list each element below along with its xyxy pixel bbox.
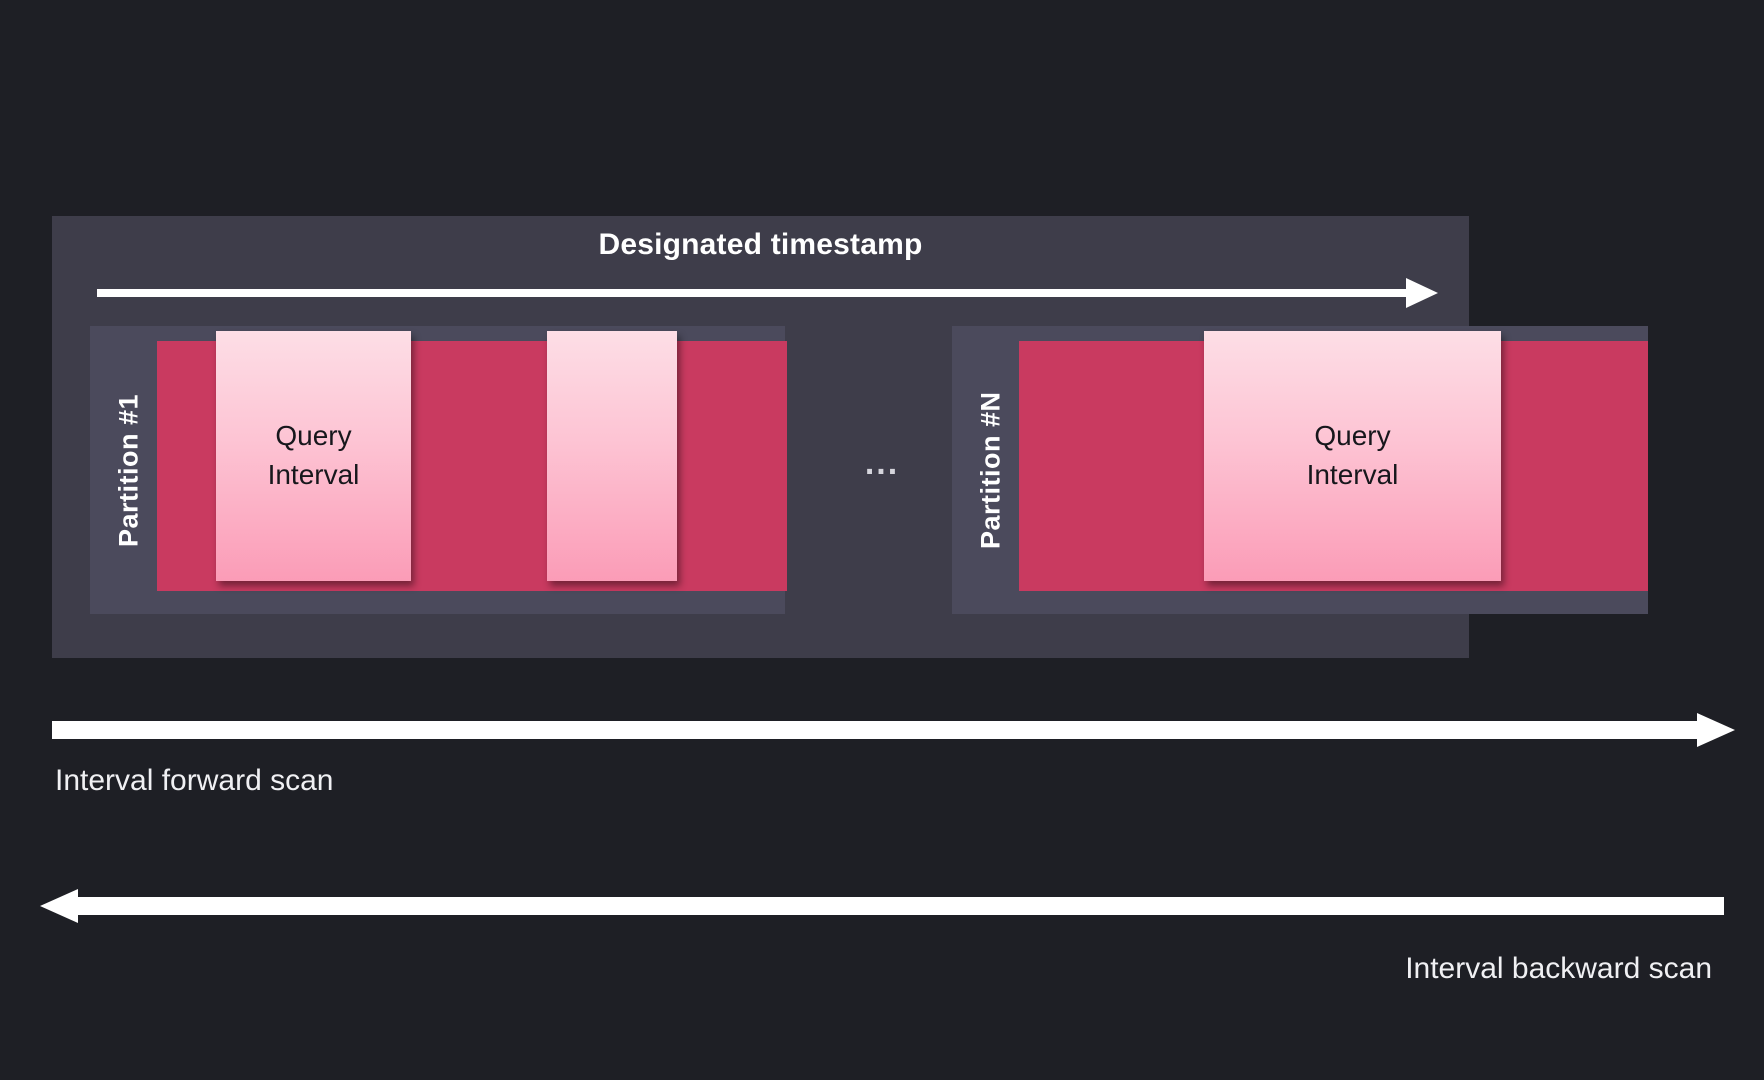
arrow-head-left-icon [40,889,78,923]
interval-forward-scan-label: Interval forward scan [55,764,333,798]
partition-1-bars: Query Interval [157,341,785,591]
partition-1: Partition #1 Query Interval [90,326,785,614]
query-interval-line2: Interval [268,456,360,495]
arrow-head-right-icon [1697,713,1735,747]
partition-n-label: Partition #N [964,326,1018,614]
query-interval-line1: Query [1314,417,1390,456]
partitions-row: Partition #1 Query Interval ... Partitio [90,326,1435,614]
arrow-shaft [97,289,1406,297]
designated-timestamp-arrow-icon [97,278,1438,308]
page-title: Designated timestamp [52,228,1469,262]
partition-n-query-interval-1-text: Query Interval [1204,331,1501,581]
partition-1-query-interval-2 [547,331,677,581]
interval-backward-scan-arrow-icon [40,889,1724,923]
arrow-shaft [52,721,1700,739]
partition-1-query-interval-1: Query Interval [216,331,411,581]
interval-forward-scan-arrow-icon [52,713,1735,747]
partition-1-query-interval-1-text: Query Interval [216,331,411,581]
query-interval-line2: Interval [1307,456,1399,495]
interval-backward-scan-label: Interval backward scan [1405,952,1712,986]
diagram-canvas: Designated timestamp Partition #1 Query … [0,0,1764,1080]
partition-1-label: Partition #1 [102,326,156,614]
query-interval-line1: Query [275,417,351,456]
partition-n-query-interval-1: Query Interval [1204,331,1501,581]
partition-n: Partition #N Query Interval [952,326,1648,614]
designated-timestamp-panel: Designated timestamp Partition #1 Query … [52,216,1469,658]
arrow-head-right-icon [1406,278,1438,308]
partitions-ellipsis: ... [818,444,946,483]
arrow-shaft [78,897,1724,915]
partition-n-bars: Query Interval [1019,341,1648,591]
